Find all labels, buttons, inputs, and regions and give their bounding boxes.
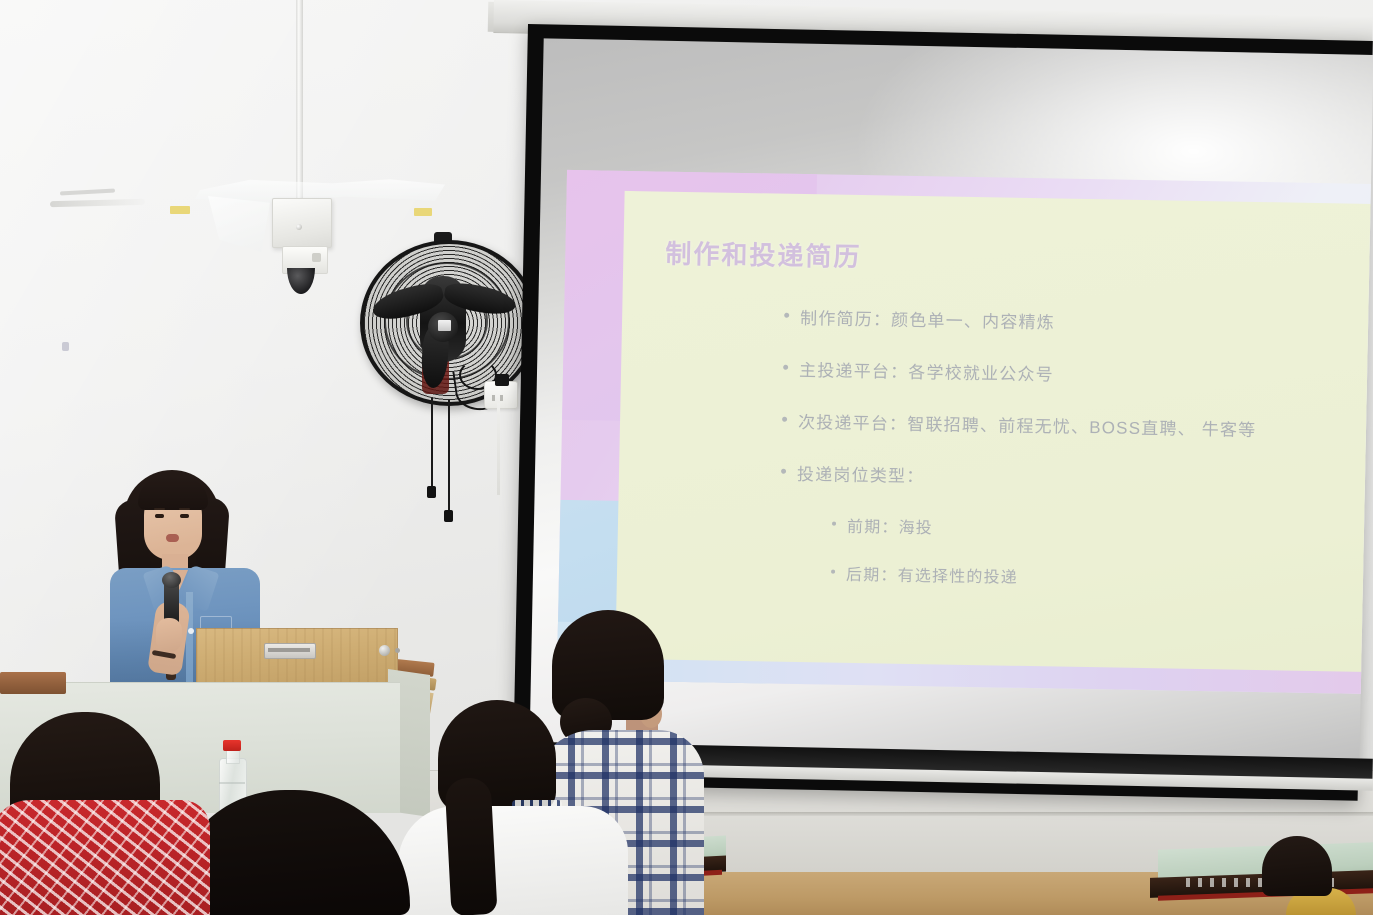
presenter-hand <box>156 618 182 652</box>
slide-bullet-item: 投递岗位类型： <box>781 460 1373 496</box>
slide-bullet-item: 制作简历：颜色单一、内容精炼 <box>784 304 1373 340</box>
slide-bullet-item: 次投递平台：智联招聘、前程无忧、BOSS直聘、 牛客等 <box>782 408 1373 444</box>
presenter-eye-right <box>180 514 189 518</box>
bullet-dot-icon <box>783 365 788 370</box>
bullet-text: 主投递平台：各学校就业公众号 <box>799 356 1054 385</box>
outlet-conduit-cable <box>497 403 500 495</box>
bullet-dot-icon <box>781 469 786 474</box>
sub-bullet-dot-icon <box>832 522 836 526</box>
bullet-dot-icon <box>784 313 789 318</box>
slide-bullet-list: 制作简历：颜色单一、内容精炼 主投递平台：各学校就业公众号 次投递平台：智联招聘… <box>778 304 1373 619</box>
security-camera-indicator <box>312 253 321 262</box>
classroom-scene: 制作和投递简历 制作简历：颜色单一、内容精炼 主投递平台：各学校就业公众号 <box>0 0 1373 915</box>
fan-pull-cord-knob-right[interactable] <box>444 510 453 522</box>
wall-small-mark <box>62 342 69 351</box>
fan-pull-cord-knob-left[interactable] <box>427 486 436 498</box>
presenter-mouth <box>166 534 179 542</box>
sub-bullet-text: 前期：海投 <box>847 513 933 538</box>
outlet-plug[interactable] <box>495 374 509 386</box>
ceiling-mount-pole <box>296 0 303 200</box>
fan-pull-cord-right[interactable] <box>448 400 450 512</box>
presenter-hair-top <box>138 476 208 510</box>
slide-sub-bullet-item: 后期：有选择性的投递 <box>831 561 1373 595</box>
slide-sub-bullet-item: 前期：海投 <box>832 513 1373 547</box>
foreground-table-edge-left <box>0 672 66 694</box>
fan-pull-cord-left[interactable] <box>431 398 433 488</box>
bullet-text: 制作简历：颜色单一、内容精炼 <box>800 304 1055 333</box>
outlet-socket-slot-right <box>500 395 503 401</box>
presenter-eye-left <box>155 514 164 518</box>
podium-knob[interactable] <box>379 645 390 656</box>
presenter-eyebrow-right <box>179 508 190 510</box>
bullet-text: 次投递平台：智联招聘、前程无忧、BOSS直聘、 牛客等 <box>798 408 1257 441</box>
presentation-slide: 制作和投递简历 制作简历：颜色单一、内容精炼 主投递平台：各学校就业公众号 <box>557 170 1373 694</box>
yellow-wall-sticker-right <box>414 208 432 216</box>
presenter-jacket-button <box>188 628 194 634</box>
presenter-jacket-placket <box>186 592 193 692</box>
podium-handle-slot-inner <box>268 648 310 652</box>
slide-title: 制作和投递简历 <box>665 234 862 274</box>
water-bottle-cap[interactable] <box>223 740 241 751</box>
podium-knob-small <box>395 648 400 653</box>
water-bottle-rib <box>219 782 245 784</box>
slide-bullet-item: 主投递平台：各学校就业公众号 <box>783 356 1373 392</box>
microphone-head-icon <box>162 572 181 588</box>
outlet-socket-slot-left <box>492 395 495 401</box>
sub-bullet-text: 后期：有选择性的投递 <box>846 561 1018 588</box>
camera-junction-box <box>272 198 332 248</box>
audience-red-patterned-shirt <box>0 800 210 915</box>
camera-box-screw <box>296 224 302 230</box>
presenter-eyebrow-left <box>154 508 165 510</box>
slide-content-panel: 制作和投递简历 制作简历：颜色单一、内容精炼 主投递平台：各学校就业公众号 <box>615 191 1373 673</box>
fan-brand-label <box>438 320 451 331</box>
bullet-dot-icon <box>782 417 787 422</box>
bullet-text: 投递岗位类型： <box>797 460 925 487</box>
audience-ponytail-hair <box>444 777 497 915</box>
sub-bullet-dot-icon <box>831 570 835 574</box>
yellow-wall-sticker-left <box>170 206 190 214</box>
audience-white-shirt <box>398 806 628 915</box>
